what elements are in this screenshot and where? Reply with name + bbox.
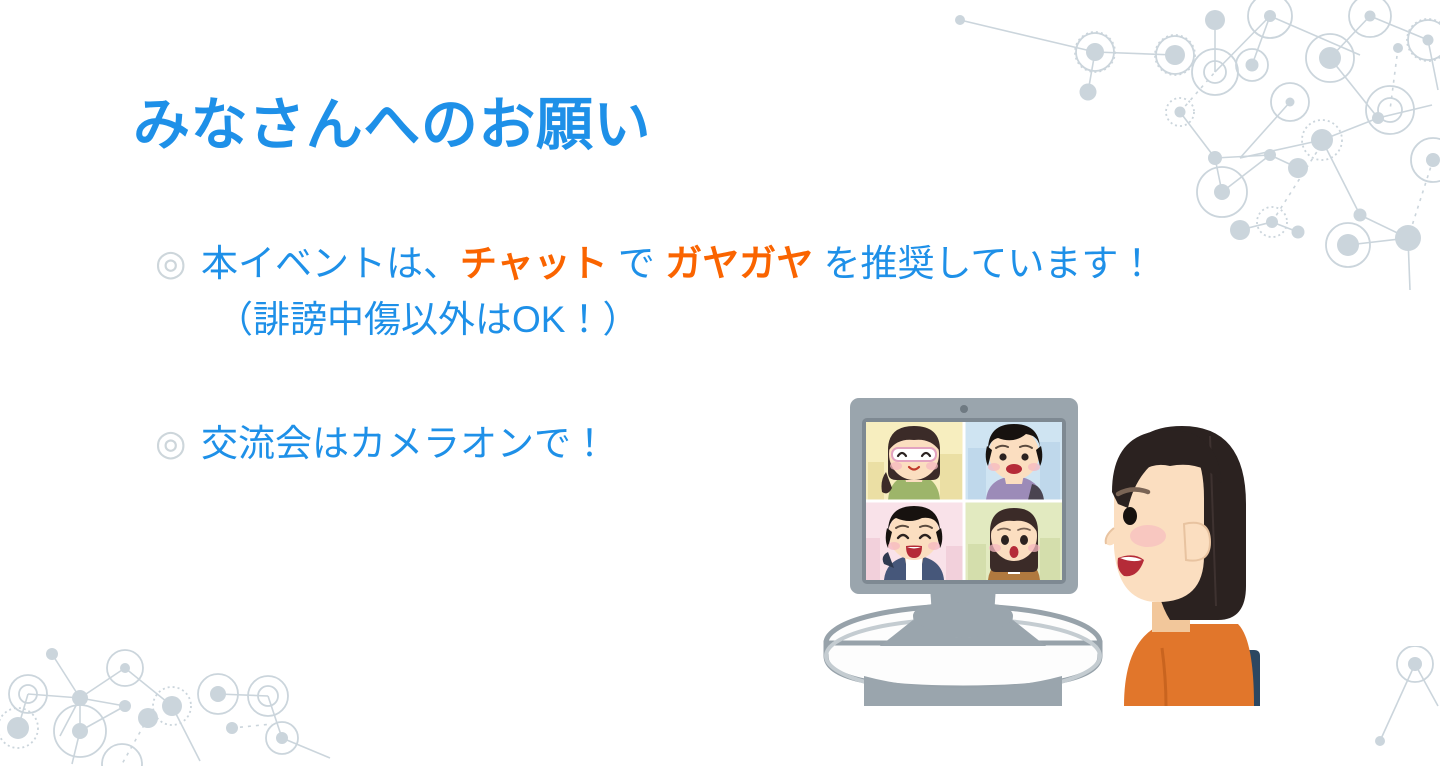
text-segment: 本イベントは、 bbox=[201, 243, 460, 284]
video-tile-top-right bbox=[965, 422, 1062, 500]
slide-canvas: みなさんへのお願い ◎ 本イベントは、チャット で ガヤガヤ を推奨しています！… bbox=[0, 0, 1440, 766]
list-item-line-2: （誹謗中傷以外はOK！） bbox=[201, 292, 1295, 348]
list-item-text: 本イベントは、チャット で ガヤガヤ を推奨しています！ （誹謗中傷以外はOK！… bbox=[201, 236, 1295, 347]
viewer-person bbox=[1106, 426, 1260, 706]
video-tile-bottom-left bbox=[866, 502, 963, 580]
text-segment: を推奨しています！ bbox=[813, 243, 1155, 284]
monitor bbox=[850, 398, 1078, 594]
list-item-line-1: 本イベントは、チャット で ガヤガヤ を推奨しています！ bbox=[201, 236, 1295, 292]
online-meeting-illustration bbox=[818, 388, 1268, 718]
network-decoration-bottom-left bbox=[0, 606, 340, 766]
text-segment: で bbox=[608, 243, 666, 284]
bullet-marker-icon: ◎ bbox=[155, 416, 201, 470]
list-item: ◎ 本イベントは、チャット で ガヤガヤ を推奨しています！ （誹謗中傷以外はO… bbox=[155, 236, 1295, 347]
network-decoration-bottom-right bbox=[1320, 646, 1440, 766]
video-tile-top-left bbox=[866, 422, 963, 500]
page-title: みなさんへのお願い bbox=[133, 93, 651, 159]
emphasis-gayagaya: ガヤガヤ bbox=[665, 243, 813, 284]
emphasis-chat: チャット bbox=[460, 243, 608, 284]
webcam-dot bbox=[960, 405, 968, 413]
sweater bbox=[1124, 624, 1254, 706]
ear bbox=[1184, 523, 1210, 561]
eye bbox=[1123, 507, 1137, 525]
video-tile-bottom-right bbox=[965, 502, 1062, 580]
bullet-marker-icon: ◎ bbox=[155, 236, 201, 290]
